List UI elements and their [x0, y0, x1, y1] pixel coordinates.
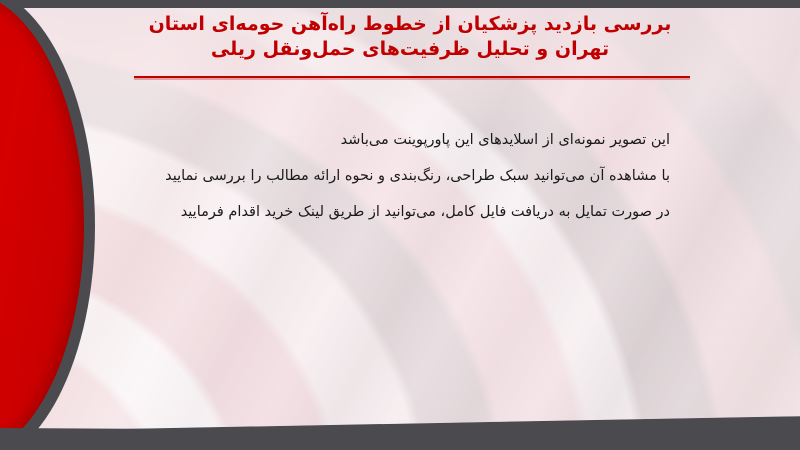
slide-canvas: بررسی بازدید پزشکیان از خطوط راه‌آهن حوم…: [0, 0, 800, 450]
slide-title: بررسی بازدید پزشکیان از خطوط راه‌آهن حوم…: [120, 12, 700, 62]
body-line-2: با مشاهده آن می‌توانید سبک طراحی، رنگ‌بن…: [110, 158, 670, 194]
title-underline-rule: [134, 76, 690, 78]
title-line-1: بررسی بازدید پزشکیان از خطوط راه‌آهن حوم…: [120, 12, 700, 37]
title-line-2: تهران و تحلیل ظرفیت‌های حمل‌ونقل ریلی: [120, 37, 700, 62]
body-line-3: در صورت تمایل به دریافت فایل کامل، می‌تو…: [110, 194, 670, 230]
body-line-1: این تصویر نمونه‌ای از اسلایدهای این پاور…: [110, 122, 670, 158]
slide-body: این تصویر نمونه‌ای از اسلایدهای این پاور…: [110, 122, 670, 230]
